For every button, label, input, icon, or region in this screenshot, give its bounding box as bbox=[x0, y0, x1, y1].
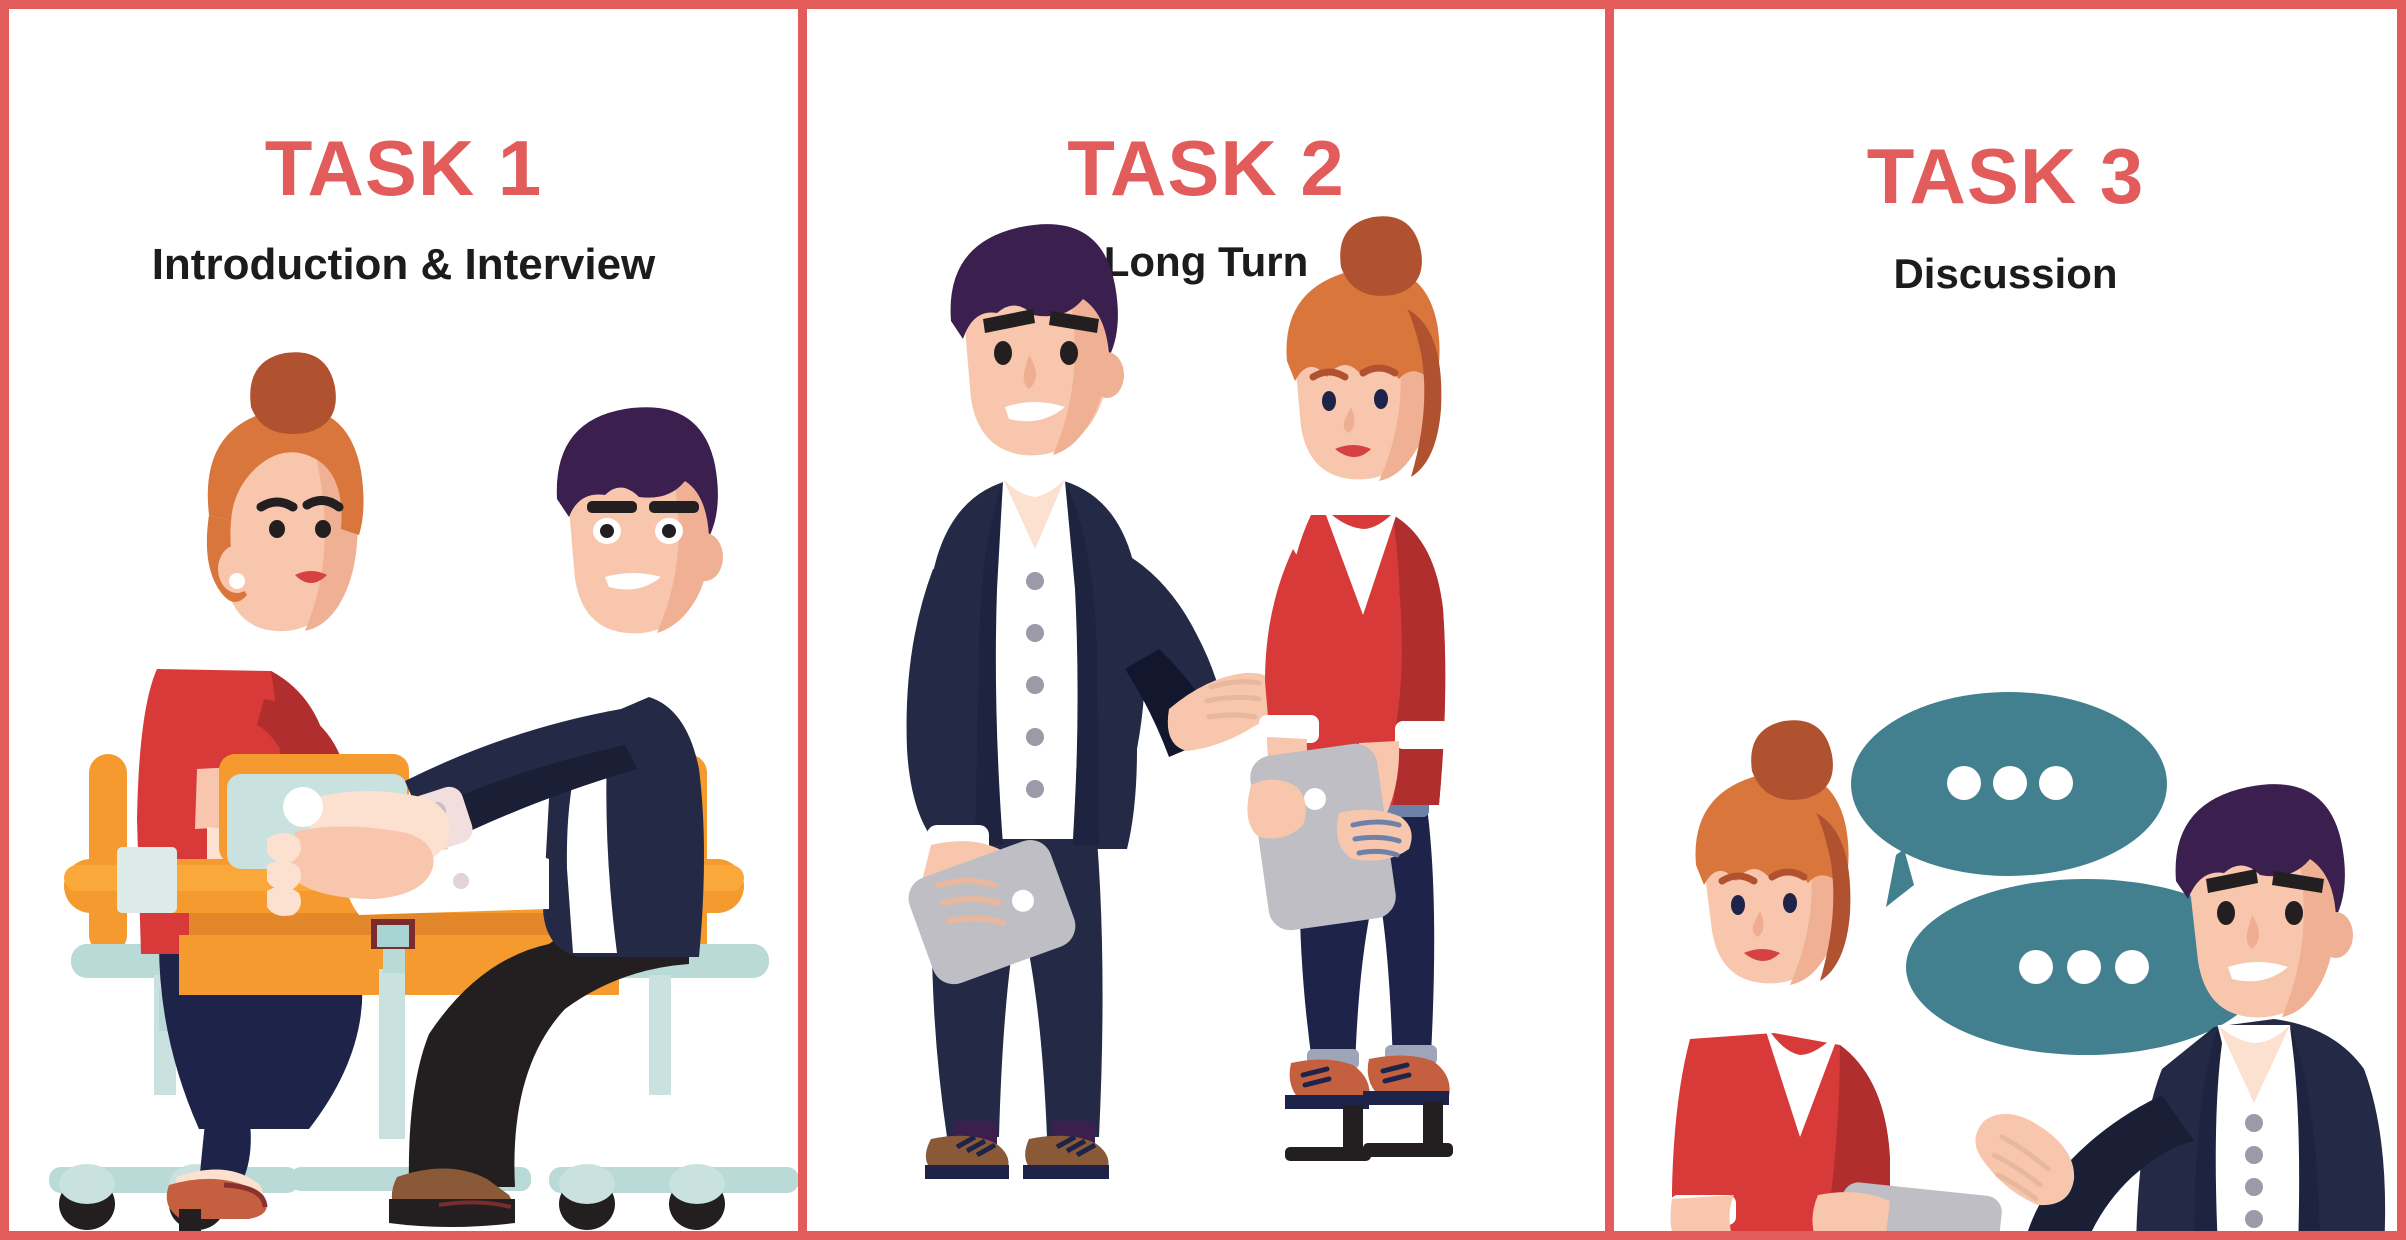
man-mouth bbox=[1005, 402, 1065, 421]
man-fingers bbox=[939, 881, 1003, 923]
woman-vneck bbox=[1762, 1019, 1840, 1137]
task-2-title: TASK 2 bbox=[807, 129, 1605, 207]
woman-eyebrow bbox=[307, 500, 339, 507]
task-1-subtitle: Introduction & Interview bbox=[9, 243, 798, 287]
ankle-cuff bbox=[1385, 1045, 1437, 1065]
task-2-subtitle: Long Turn bbox=[807, 241, 1605, 283]
chair-left-base bbox=[49, 1167, 299, 1193]
woman-vneck bbox=[1323, 507, 1399, 615]
woman-ear bbox=[218, 545, 256, 593]
man-left-cuff bbox=[927, 825, 989, 861]
man-hair bbox=[2176, 784, 2345, 917]
man-nose bbox=[1024, 355, 1036, 389]
man-jacket bbox=[2136, 1019, 2385, 1231]
man-cuff bbox=[403, 783, 476, 856]
man-mouth bbox=[605, 573, 661, 589]
woman-boot bbox=[1290, 1059, 1370, 1105]
woman-arm-lower bbox=[207, 827, 429, 914]
finger bbox=[267, 886, 301, 916]
man-right-sleeve bbox=[1125, 649, 1221, 757]
man-shirt bbox=[2213, 1025, 2305, 1231]
boot-heel bbox=[1423, 1101, 1443, 1149]
man-collar bbox=[593, 709, 611, 751]
boot-heel bbox=[1343, 1105, 1363, 1153]
handshake-hand-lower bbox=[291, 826, 433, 899]
caster-wheel bbox=[59, 1178, 115, 1230]
man-shoe bbox=[1025, 1136, 1108, 1173]
shirt-button bbox=[2245, 1178, 2263, 1196]
shirt-button bbox=[2245, 1146, 2263, 1164]
woman-eyebrow bbox=[1363, 368, 1395, 373]
finger bbox=[267, 860, 301, 890]
man-shoe bbox=[926, 1136, 1009, 1173]
tablet bbox=[902, 834, 1081, 991]
finger bbox=[267, 833, 301, 862]
speech-bubble-tail bbox=[1886, 849, 1914, 907]
man-eyebrow bbox=[587, 501, 637, 513]
caster-wheel bbox=[169, 1178, 225, 1230]
woman-eyebrow bbox=[1722, 876, 1754, 881]
woman-forearm bbox=[1341, 741, 1399, 831]
woman-sleeve bbox=[1265, 549, 1315, 729]
woman-mouth bbox=[1744, 949, 1780, 961]
man-open-hand bbox=[1975, 1114, 2074, 1205]
man-shirt bbox=[567, 709, 617, 953]
desk-base bbox=[291, 1167, 531, 1191]
woman-hair-side bbox=[1816, 813, 1850, 981]
woman-hair-side bbox=[1407, 309, 1441, 477]
man-eyebrow bbox=[2206, 869, 2258, 893]
ellipsis-dot bbox=[2039, 766, 2073, 800]
chair-left-back bbox=[89, 754, 127, 954]
ellipsis-dot bbox=[1993, 766, 2027, 800]
woman-top bbox=[1283, 515, 1445, 805]
woman-head bbox=[1295, 286, 1433, 479]
woman-jeans bbox=[1300, 807, 1435, 1069]
shirt-button bbox=[2245, 1210, 2263, 1228]
handshake-hand-upper bbox=[309, 791, 450, 872]
panel-divider-1 bbox=[798, 9, 807, 1231]
man-jacket bbox=[921, 479, 1145, 849]
man-ear bbox=[687, 533, 723, 581]
woman-eye bbox=[315, 520, 331, 538]
laptop-screen bbox=[227, 774, 407, 869]
man-shirt bbox=[991, 479, 1080, 839]
man-left-arm bbox=[907, 565, 987, 849]
woman-hair bbox=[1287, 268, 1440, 385]
woman-speaker bbox=[1670, 720, 2003, 1231]
man-shoe bbox=[392, 1168, 512, 1215]
woman-eyebrow bbox=[1313, 372, 1345, 377]
man-right-arm bbox=[1095, 549, 1225, 749]
woman-arm-upper bbox=[195, 768, 449, 854]
woman-hair bbox=[1696, 772, 1849, 889]
man-head bbox=[569, 435, 711, 634]
woman-hand bbox=[1812, 1192, 1890, 1231]
man-collar bbox=[2218, 1025, 2290, 1103]
woman-eye bbox=[1783, 893, 1797, 913]
woman-hair bbox=[208, 408, 364, 535]
woman-sleeve bbox=[1395, 555, 1443, 737]
earring bbox=[229, 573, 245, 589]
man-hair bbox=[557, 407, 718, 537]
woman-nose bbox=[1753, 911, 1764, 937]
man-eyebrow bbox=[983, 309, 1035, 333]
woman-top bbox=[137, 669, 335, 954]
woman-forearm bbox=[1267, 737, 1327, 829]
woman-eye bbox=[1731, 895, 1745, 915]
man-hand-left bbox=[923, 841, 1017, 907]
chair-right-seat bbox=[569, 944, 769, 978]
man-arm bbox=[405, 709, 657, 837]
woman-eyebrow bbox=[261, 502, 293, 507]
desk-crossbar bbox=[189, 909, 609, 935]
woman-forearm bbox=[1671, 1195, 1737, 1231]
man-eye bbox=[1060, 341, 1078, 365]
woman-eyebrow bbox=[1772, 872, 1804, 877]
ellipsis-dot bbox=[2019, 950, 2053, 984]
chair-left-post bbox=[154, 975, 176, 1095]
woman-eye bbox=[1374, 389, 1388, 409]
woman-hand bbox=[1247, 779, 1305, 838]
speech-bubble-upper bbox=[1851, 692, 2167, 907]
panel-task-2: TASK 2 Long Turn bbox=[807, 9, 1605, 1231]
man-ear bbox=[2319, 912, 2353, 958]
task-3-subtitle: Discussion bbox=[1614, 253, 2397, 295]
shirt-button bbox=[2245, 1114, 2263, 1132]
man-eye bbox=[2285, 901, 2303, 925]
man-eye bbox=[593, 518, 621, 544]
chair-right-base bbox=[549, 1167, 798, 1193]
man-eye bbox=[994, 341, 1012, 365]
laptop-back bbox=[219, 754, 409, 864]
man-head bbox=[2190, 813, 2336, 1018]
ankle-cuff bbox=[1307, 1049, 1359, 1069]
man-eyebrow bbox=[1049, 311, 1099, 333]
woman-head bbox=[1704, 790, 1844, 983]
desk-post bbox=[379, 969, 405, 1139]
panel-task-3: TASK 3 Discussion bbox=[1614, 9, 2397, 1231]
man-eyebrow bbox=[2272, 871, 2324, 893]
tablet-button bbox=[1304, 788, 1326, 810]
woman-nose bbox=[1344, 407, 1355, 433]
man-legs bbox=[409, 889, 689, 1187]
woman-foot bbox=[175, 1169, 263, 1209]
man-open-hand bbox=[1168, 673, 1277, 751]
woman-mouth bbox=[295, 571, 327, 583]
chair-right-back bbox=[669, 754, 707, 969]
man-trousers bbox=[932, 839, 1103, 1137]
caster-wheel bbox=[559, 1178, 615, 1230]
shoe-heel bbox=[179, 1209, 201, 1231]
man-ear bbox=[1090, 352, 1124, 398]
man-forearm-shirt bbox=[346, 845, 549, 915]
man-presenter bbox=[902, 224, 1277, 1179]
woman-head bbox=[221, 433, 356, 631]
man-eye bbox=[2217, 901, 2235, 925]
task-3-title: TASK 3 bbox=[1614, 137, 2397, 215]
ellipsis-dot bbox=[2115, 950, 2149, 984]
man-mouth bbox=[2228, 962, 2288, 981]
watch-face bbox=[283, 787, 323, 827]
man-nose bbox=[2247, 915, 2259, 949]
glass bbox=[117, 847, 177, 913]
woman-hair-bun bbox=[250, 352, 336, 434]
woman-legs bbox=[159, 944, 359, 1129]
woman-listener bbox=[1247, 216, 1453, 1161]
shirt-button bbox=[1026, 624, 1044, 642]
man-speaker bbox=[1975, 784, 2385, 1231]
woman-cuff bbox=[1395, 721, 1451, 749]
woman-cuff bbox=[1259, 715, 1319, 743]
man-jacket bbox=[543, 697, 704, 957]
woman-eye bbox=[1322, 391, 1336, 411]
coffee-cup bbox=[379, 837, 437, 905]
woman-top bbox=[1672, 1033, 1890, 1231]
woman-belt bbox=[1299, 791, 1429, 817]
woman-cuff bbox=[1670, 1195, 1736, 1225]
panel-divider-2 bbox=[1605, 9, 1614, 1231]
man-fingers bbox=[1994, 1137, 2048, 1199]
woman-mouth bbox=[1335, 445, 1371, 457]
caster-wheel bbox=[669, 1178, 725, 1230]
infographic-frame: TASK 1 Introduction & Interview bbox=[0, 0, 2406, 1240]
shirt-button bbox=[1026, 572, 1044, 590]
coffee-cup-lid bbox=[371, 819, 445, 841]
man-collar bbox=[1003, 479, 1065, 549]
shirt-button bbox=[1026, 676, 1044, 694]
speech-bubble-tail bbox=[2234, 939, 2310, 981]
ellipsis-dot bbox=[1947, 766, 1981, 800]
man-arm bbox=[2026, 1095, 2194, 1231]
shirt-button bbox=[1026, 728, 1044, 746]
panel-task-1: TASK 1 Introduction & Interview bbox=[9, 9, 798, 1231]
woman-eye bbox=[269, 520, 285, 538]
woman-hair-bun bbox=[1751, 720, 1833, 800]
man-eyebrow bbox=[649, 501, 699, 513]
tablet bbox=[1247, 741, 1398, 933]
shirt-button bbox=[1026, 780, 1044, 798]
woman-boot bbox=[1368, 1055, 1450, 1101]
man-eye bbox=[655, 518, 683, 544]
desk-top bbox=[64, 859, 744, 913]
cuff-button bbox=[453, 873, 469, 889]
ellipsis-dot bbox=[2067, 950, 2101, 984]
woman-hand bbox=[1337, 810, 1412, 861]
chair-left-seat bbox=[71, 944, 271, 978]
desk-apron bbox=[179, 935, 619, 995]
tablet bbox=[1837, 1181, 2003, 1231]
tablet-button bbox=[1009, 887, 1037, 915]
woman-shoe bbox=[167, 1179, 267, 1219]
speech-bubble-lower bbox=[1906, 879, 2310, 1055]
task-1-title: TASK 1 bbox=[9, 129, 798, 207]
